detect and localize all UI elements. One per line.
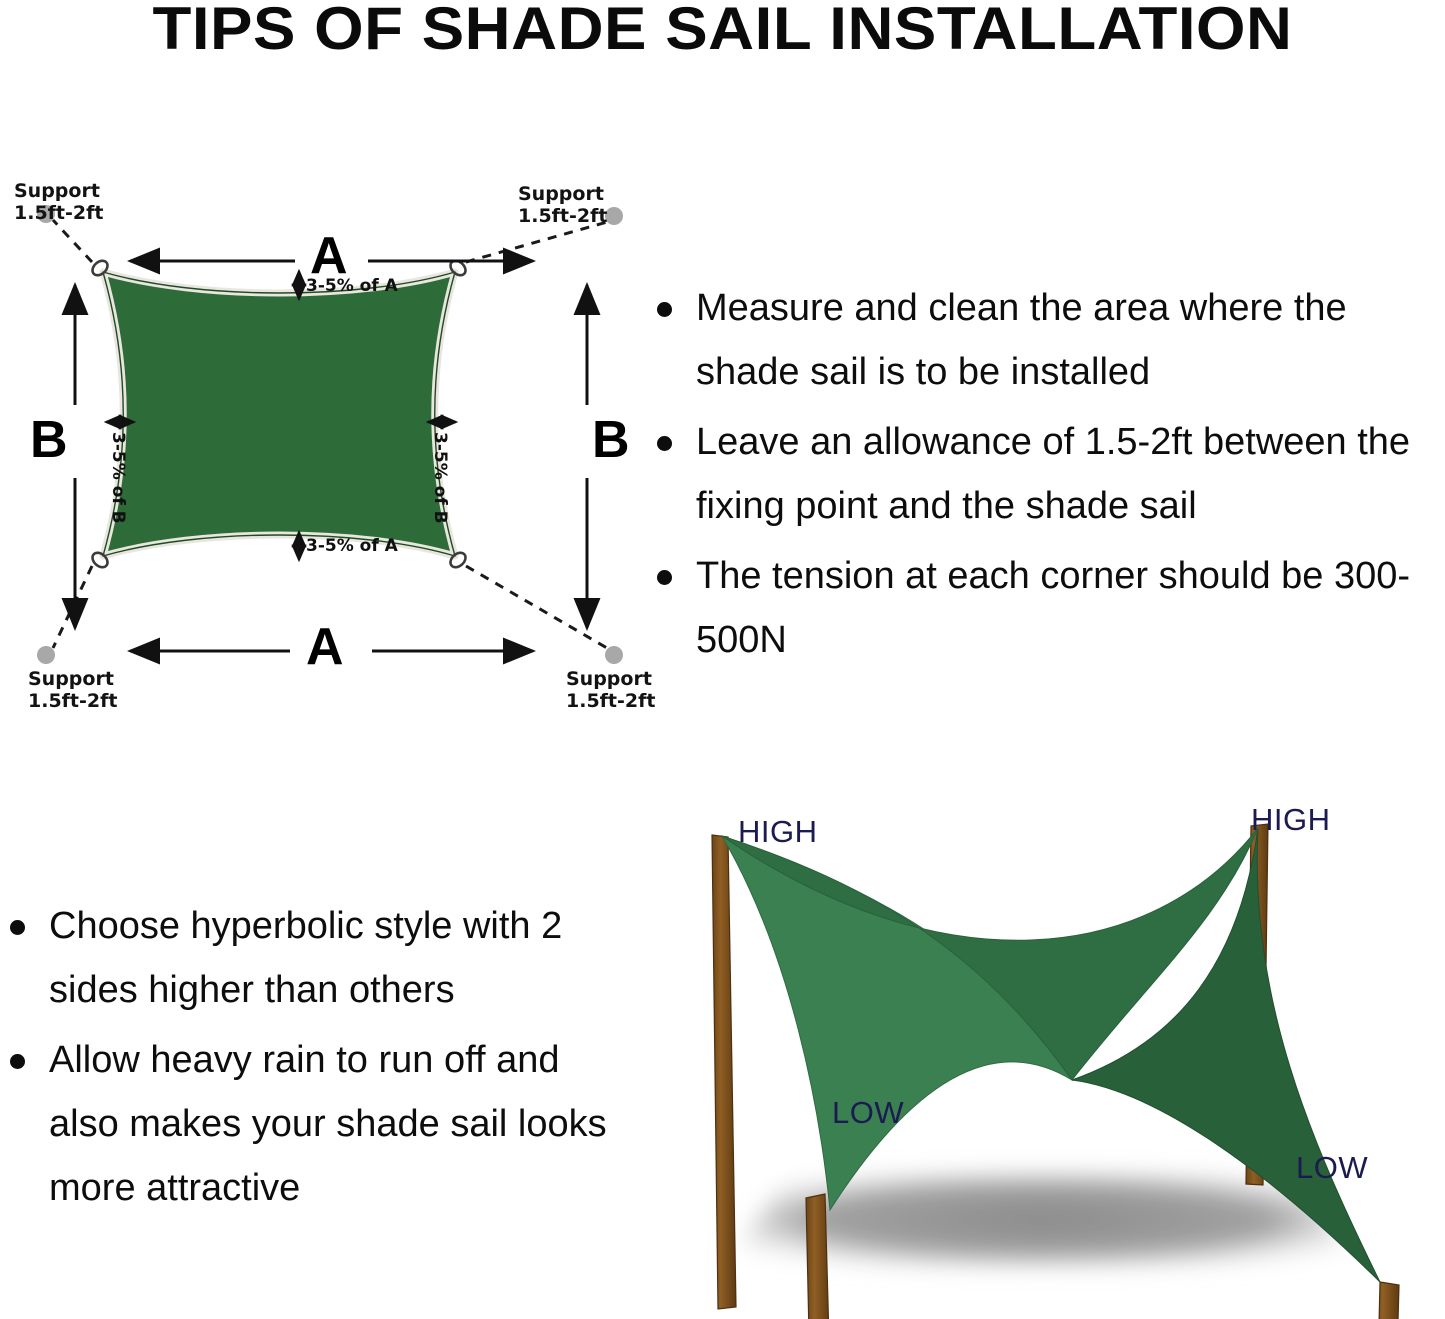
hyperbolic-style-tips-list: Choose hyperbolic style with 2 sides hig… [8, 894, 623, 1226]
list-item: Leave an allowance of 1.5-2ft between th… [655, 410, 1445, 538]
rectangular-sail-diagram: Support 1.5ft-2ft Support 1.5ft-2ft Supp… [0, 160, 660, 720]
installation-tips-list: Measure and clean the area where the sha… [655, 276, 1445, 678]
sag-label-top: 3-5% of A [306, 276, 398, 296]
list-item: Measure and clean the area where the sha… [655, 276, 1445, 404]
post-rear-left [712, 835, 736, 1309]
support-dot-bottom-left [37, 646, 55, 664]
sag-label-bottom: 3-5% of A [306, 536, 398, 556]
sag-label-left: 3-5% of B [108, 432, 128, 524]
support-label-top-left: Support 1.5ft-2ft [14, 180, 103, 224]
sail-body [103, 272, 455, 556]
dimension-label-B-right: B [592, 414, 630, 466]
sail-panel-left [722, 836, 1072, 1210]
label-high-right: HIGH [1251, 802, 1331, 838]
support-dot-bottom-right [605, 646, 623, 664]
list-item: Choose hyperbolic style with 2 sides hig… [8, 894, 623, 1022]
support-dot-top-right [605, 207, 623, 225]
label-low-right: LOW [1296, 1150, 1368, 1186]
page-title: TIPS OF SHADE SAIL INSTALLATION [0, 0, 1445, 63]
list-item: Allow heavy rain to run off and also mak… [8, 1028, 623, 1220]
post-front-right [1374, 1282, 1399, 1319]
dimension-label-A-bottom: A [306, 621, 344, 673]
shade-sail-instruction-graphic: TIPS OF SHADE SAIL INSTALLATION [0, 0, 1445, 1319]
dimension-label-A-top: A [310, 230, 348, 282]
dimension-label-B-left: B [30, 414, 68, 466]
support-label-top-right: Support 1.5ft-2ft [518, 183, 607, 227]
list-item: The tension at each corner should be 300… [655, 544, 1445, 672]
label-low-left: LOW [832, 1095, 904, 1131]
support-label-bottom-right: Support 1.5ft-2ft [566, 668, 655, 712]
support-label-bottom-left: Support 1.5ft-2ft [28, 668, 117, 712]
sag-label-right: 3-5% of B [430, 432, 450, 524]
hyperbolic-sail-diagram: HIGH HIGH LOW LOW [680, 780, 1445, 1319]
label-high-left: HIGH [738, 814, 818, 850]
